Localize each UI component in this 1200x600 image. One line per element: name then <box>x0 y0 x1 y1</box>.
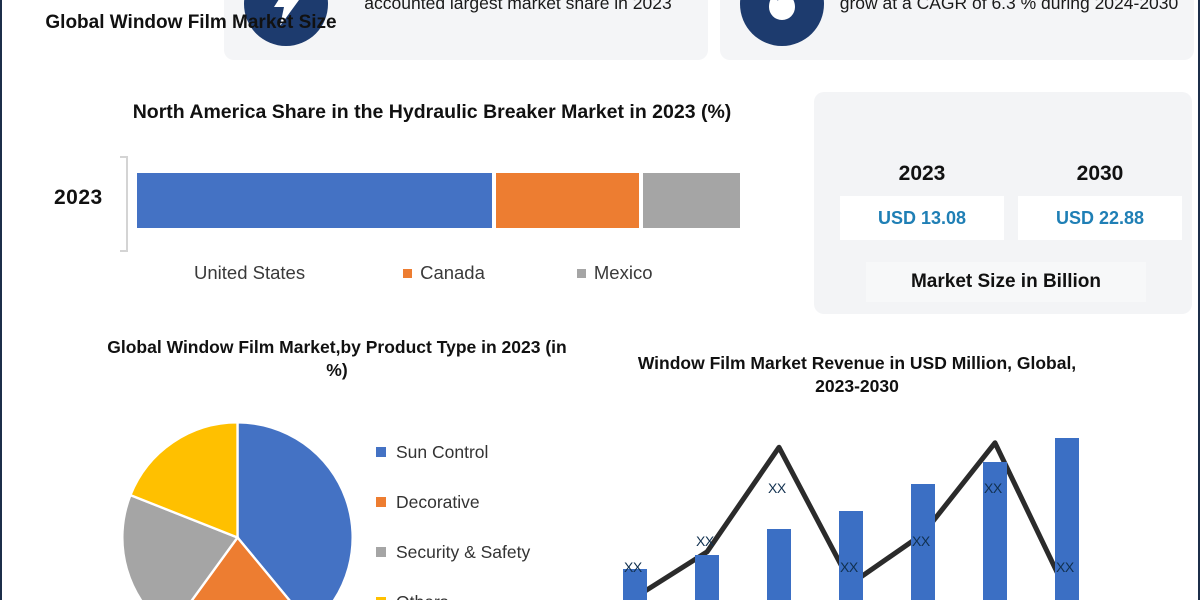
legend-swatch-mexico <box>577 269 586 278</box>
north-america-axis-tick-bottom <box>120 250 128 252</box>
legend-swatch-sun-control <box>376 447 386 457</box>
revenue-bar-label: XX <box>696 533 714 549</box>
legend-swatch-security-safety <box>376 547 386 557</box>
legend-label-decorative: Decorative <box>396 492 480 513</box>
legend-label-others: Others <box>396 592 449 600</box>
revenue-bar <box>695 555 719 600</box>
legend-swatch-decorative <box>376 497 386 507</box>
highlight-card-1-text: accounted largest market share in 2023 <box>328 0 708 16</box>
revenue-bar-label: XX <box>912 533 930 549</box>
bar-segment-mexico <box>643 173 740 228</box>
revenue-bar-label: XX <box>840 559 858 575</box>
legend-item-security-safety: Security & Safety <box>376 540 606 564</box>
legend-label-security-safety: Security & Safety <box>396 542 530 563</box>
pie-chart <box>120 420 360 600</box>
revenue-chart: XXXXXXXXXXXXXX <box>607 420 1167 600</box>
legend-label-canada: Canada <box>420 262 485 284</box>
legend-label-sun-control: Sun Control <box>396 442 488 463</box>
legend-item-canada: Canada <box>403 262 485 284</box>
north-america-chart-title: North America Share in the Hydraulic Bre… <box>82 100 782 126</box>
legend-item-decorative: Decorative <box>376 490 606 514</box>
market-size-value-2030: USD 22.88 <box>1018 196 1182 240</box>
pie-chart-svg <box>120 420 355 600</box>
market-size-heading: Global Window Film Market Size <box>22 10 360 35</box>
pie-chart-legend: Sun ControlDecorativeSecurity & SafetyOt… <box>376 440 606 600</box>
revenue-bar <box>767 529 791 600</box>
legend-swatch-canada <box>403 269 412 278</box>
legend-label-mexico: Mexico <box>594 262 653 284</box>
infographic-page: accounted largest market share in 2023 g… <box>0 0 1200 600</box>
legend-label-united-states: United States <box>194 262 305 284</box>
legend-item-united-states: United States <box>177 262 305 284</box>
revenue-chart-title: Window Film Market Revenue in USD Millio… <box>622 352 1092 399</box>
north-america-legend: United States Canada Mexico <box>137 262 757 284</box>
revenue-bar-label: XX <box>984 480 1002 496</box>
north-america-axis-line <box>126 156 128 252</box>
market-size-unit-label: Market Size in Billion <box>866 262 1146 302</box>
market-size-value-2023: USD 13.08 <box>840 196 1004 240</box>
revenue-bar-label: XX <box>1056 559 1074 575</box>
revenue-bar-label: XX <box>624 559 642 575</box>
legend-item-sun-control: Sun Control <box>376 440 606 464</box>
bar-segment-united-states <box>137 173 492 228</box>
north-america-axis-tick-top <box>120 156 128 158</box>
revenue-bar <box>839 511 863 600</box>
north-america-stacked-bar <box>137 173 732 228</box>
north-america-category-label: 2023 <box>54 186 103 210</box>
revenue-bar-label: XX <box>768 480 786 496</box>
bar-segment-canada <box>496 173 639 228</box>
pie-chart-title: Global Window Film Market,by Product Typ… <box>97 336 577 383</box>
legend-item-others: Others <box>376 590 606 600</box>
revenue-bar <box>1055 438 1079 600</box>
flame-icon <box>740 0 824 46</box>
market-size-year-2023: 2023 <box>840 162 1004 186</box>
market-size-year-2030: 2030 <box>1018 162 1182 186</box>
highlight-card-2-text: grow at a CAGR of 6.3 % during 2024-2030 <box>824 0 1194 16</box>
legend-item-mexico: Mexico <box>577 262 653 284</box>
revenue-trend-line <box>607 420 1167 600</box>
highlight-card-cagr: grow at a CAGR of 6.3 % during 2024-2030 <box>720 0 1194 60</box>
